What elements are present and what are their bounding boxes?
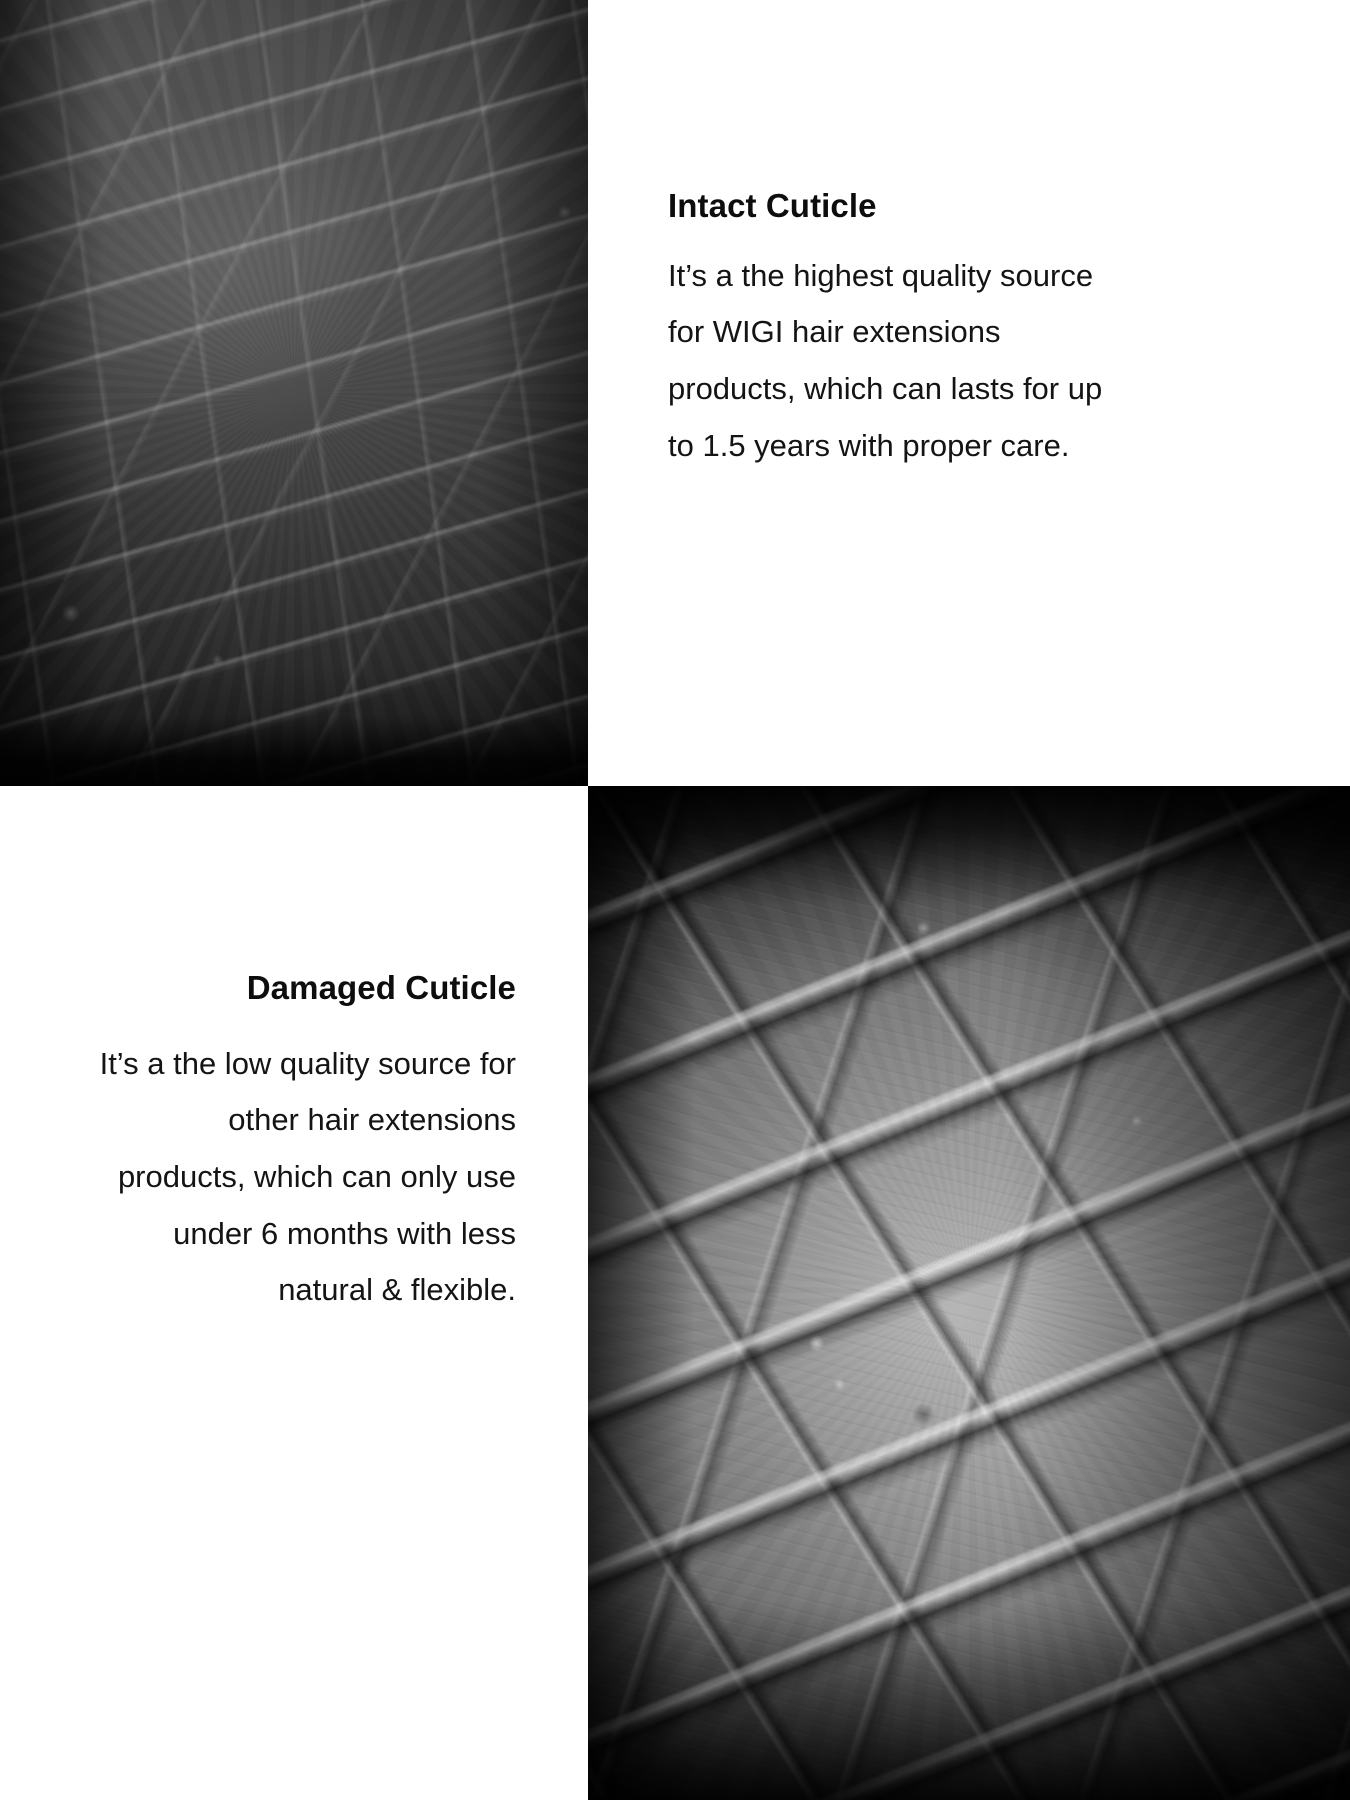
intact-cuticle-body: It’s a the highest quality source for WI…	[668, 248, 1108, 475]
damaged-cuticle-body: It’s a the low quality source for other …	[96, 1036, 516, 1320]
sem-micrograph-intact-cuticle	[0, 0, 588, 786]
damaged-cuticle-text-pane: Damaged Cuticle It’s a the low quality s…	[0, 786, 588, 1800]
section-damaged-cuticle: Damaged Cuticle It’s a the low quality s…	[0, 786, 1350, 1800]
damaged-cuticle-heading: Damaged Cuticle	[247, 968, 516, 1008]
intact-cuticle-heading: Intact Cuticle	[668, 186, 877, 226]
intact-cuticle-texture	[0, 0, 588, 786]
cuticle-comparison-page: Intact Cuticle It’s a the highest qualit…	[0, 0, 1350, 1800]
damaged-cuticle-texture	[588, 786, 1350, 1800]
section-intact-cuticle: Intact Cuticle It’s a the highest qualit…	[0, 0, 1350, 786]
intact-cuticle-text-pane: Intact Cuticle It’s a the highest qualit…	[588, 0, 1350, 786]
sem-micrograph-damaged-cuticle	[588, 786, 1350, 1800]
